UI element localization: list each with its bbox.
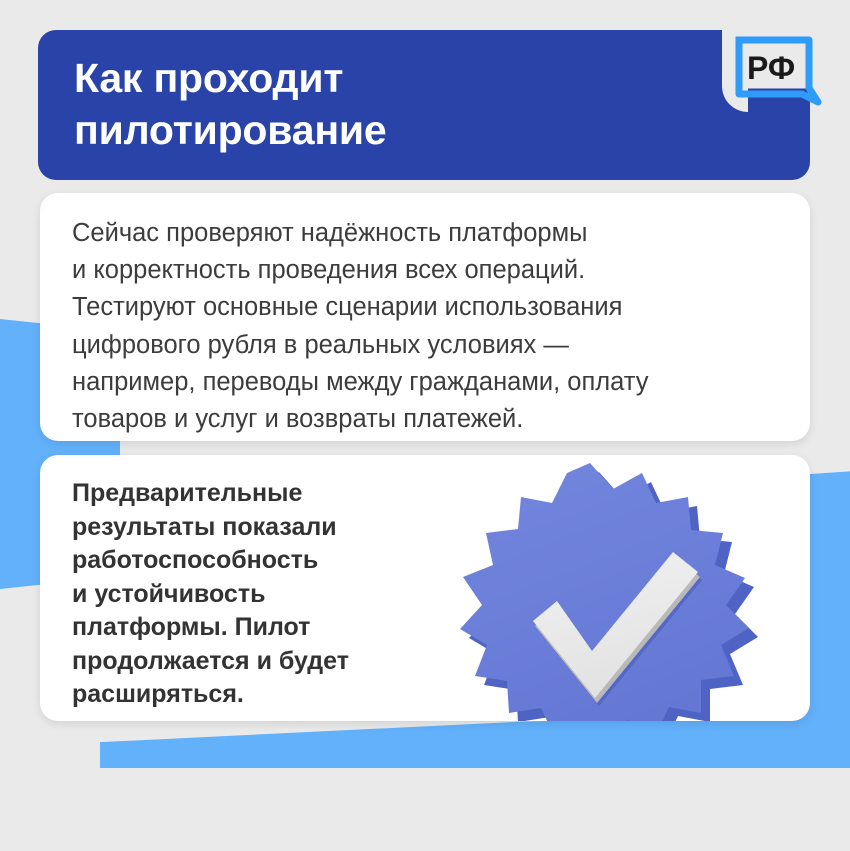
result-card: Предварительные результаты показали рабо… <box>40 455 810 721</box>
description-text: Сейчас проверяют надёжность платформы и … <box>72 215 772 438</box>
logo-text: РФ <box>747 50 795 86</box>
header-panel <box>38 30 810 180</box>
infographic-poster: Как проходит пилотирование РФ Сейчас про… <box>0 0 850 851</box>
result-text: Предварительные результаты показали рабо… <box>72 477 422 712</box>
rf-logo: РФ <box>722 26 826 130</box>
description-card: Сейчас проверяют надёжность платформы и … <box>40 193 810 441</box>
starburst-checkmark-icon <box>445 455 810 721</box>
